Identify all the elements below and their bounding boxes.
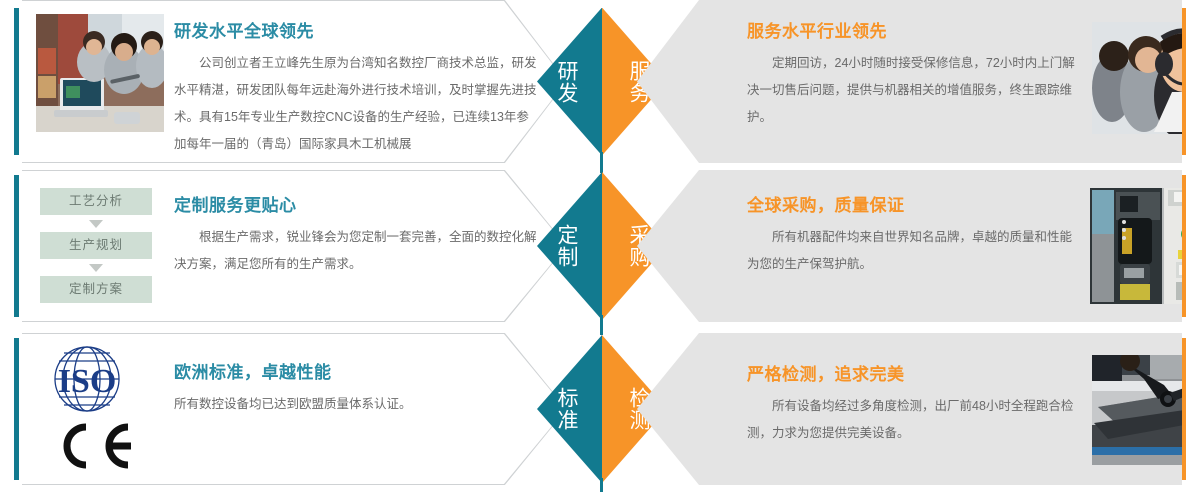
stage-label-custom: 定制 [542, 215, 590, 277]
card-rd[interactable]: 研发水平全球领先 公司创立者王立峰先生原为台湾知名数控厂商技术总监，研发水平精湛… [22, 0, 567, 163]
card-purchase-title: 全球采购，质量保证 [747, 194, 1077, 218]
advantage-row-custom-purchase: 工艺分析 生产规划 定制方案 定制服务更贴心 根据生产需求，锐业锋会为您定制一套… [0, 170, 1204, 322]
card-standard-title: 欧洲标准，卓越性能 [174, 361, 540, 385]
row-accent-bar-left [14, 338, 19, 480]
card-service[interactable]: 服务水平行业领先 定期回访，24小时随时接受保修信息，72小时内上门解决一切售后… [637, 0, 1182, 163]
card-custom-title: 定制服务更贴心 [174, 194, 540, 218]
card-rd-title: 研发水平全球领先 [174, 20, 540, 44]
card-standard-paragraph: 所有数控设备均已达到欧盟质量体系认证。 [174, 391, 540, 418]
stage-connector-3 [600, 478, 603, 492]
stage-connector-2 [600, 315, 603, 335]
team-meeting-photo [36, 14, 164, 132]
row-accent-bar-left [14, 175, 19, 317]
card-inspection-title: 严格检测，追求完美 [747, 363, 1077, 387]
quality-inspection-photo-art [1092, 355, 1204, 465]
card-service-paragraph: 定期回访，24小时随时接受保修信息，72小时内上门解决一切售后问题，提供与机器相… [747, 50, 1077, 131]
call-center-headset-photo-art [1092, 22, 1204, 134]
step-arrow-2-icon [40, 259, 152, 276]
quality-inspection-photo [1092, 355, 1204, 465]
advantages-infographic: 研发水平全球领先 公司创立者王立峰先生原为台湾知名数控厂商技术总监，研发水平精湛… [0, 0, 1204, 492]
iso-logo-icon: ISO [38, 343, 136, 415]
cnc-spindle-components-photo [1090, 188, 1204, 304]
team-meeting-photo-art [36, 14, 164, 132]
advantage-row-rd-service: 研发水平全球领先 公司创立者王立峰先生原为台湾知名数控厂商技术总监，研发水平精湛… [0, 0, 1204, 163]
call-center-headset-photo [1092, 22, 1204, 134]
cnc-spindle-components-photo-art [1090, 188, 1204, 304]
card-purchase-paragraph: 所有机器配件均来自世界知名品牌，卓越的质量和性能为您的生产保驾护航。 [747, 224, 1077, 278]
card-rd-paragraph: 公司创立者王立峰先生原为台湾知名数控厂商技术总监，研发水平精湛，研发团队每年远赴… [174, 50, 540, 158]
iso-ce-certification-logos: ISO [38, 343, 156, 475]
card-service-body: 服务水平行业领先 定期回访，24小时随时接受保修信息，72小时内上门解决一切售后… [747, 20, 1077, 131]
stage-label-standard: 标准 [542, 378, 590, 440]
card-purchase-body: 全球采购，质量保证 所有机器配件均来自世界知名品牌，卓越的质量和性能为您的生产保… [747, 194, 1077, 278]
card-custom[interactable]: 工艺分析 生产规划 定制方案 定制服务更贴心 根据生产需求，锐业锋会为您定制一套… [22, 170, 567, 322]
advantage-row-standard-inspection: ISO 欧洲标准，卓越性能 所有数控设备均已达到欧盟质量体系认证。 [0, 333, 1204, 485]
step-chip-3[interactable]: 定制方案 [40, 276, 152, 303]
card-inspection-body: 严格检测，追求完美 所有设备均经过多角度检测，出厂前48小时全程跑合检测，力求为… [747, 363, 1077, 447]
card-standard[interactable]: ISO 欧洲标准，卓越性能 所有数控设备均已达到欧盟质量体系认证。 [22, 333, 567, 485]
step-chip-1[interactable]: 工艺分析 [40, 188, 152, 215]
stage-label-rd: 研发 [542, 51, 590, 113]
card-service-title: 服务水平行业领先 [747, 20, 1077, 44]
card-standard-body: 欧洲标准，卓越性能 所有数控设备均已达到欧盟质量体系认证。 [174, 361, 540, 418]
step-chip-2[interactable]: 生产规划 [40, 232, 152, 259]
card-custom-body: 定制服务更贴心 根据生产需求，锐业锋会为您定制一套完善，全面的数控化解决方案，满… [174, 194, 540, 278]
ce-mark-icon [56, 422, 134, 470]
card-purchase[interactable]: 全球采购，质量保证 所有机器配件均来自世界知名品牌，卓越的质量和性能为您的生产保… [637, 170, 1182, 322]
step-arrow-1-icon [40, 215, 152, 232]
card-rd-body: 研发水平全球领先 公司创立者王立峰先生原为台湾知名数控厂商技术总监，研发水平精湛… [174, 20, 540, 158]
card-inspection-paragraph: 所有设备均经过多角度检测，出厂前48小时全程跑合检测，力求为您提供完美设备。 [747, 393, 1077, 447]
process-steps-diagram: 工艺分析 生产规划 定制方案 [40, 188, 152, 303]
card-custom-paragraph: 根据生产需求，锐业锋会为您定制一套完善，全面的数控化解决方案，满足您所有的生产需… [174, 224, 540, 278]
row-accent-bar-left [14, 8, 19, 155]
card-inspection[interactable]: 严格检测，追求完美 所有设备均经过多角度检测，出厂前48小时全程跑合检测，力求为… [637, 333, 1182, 485]
